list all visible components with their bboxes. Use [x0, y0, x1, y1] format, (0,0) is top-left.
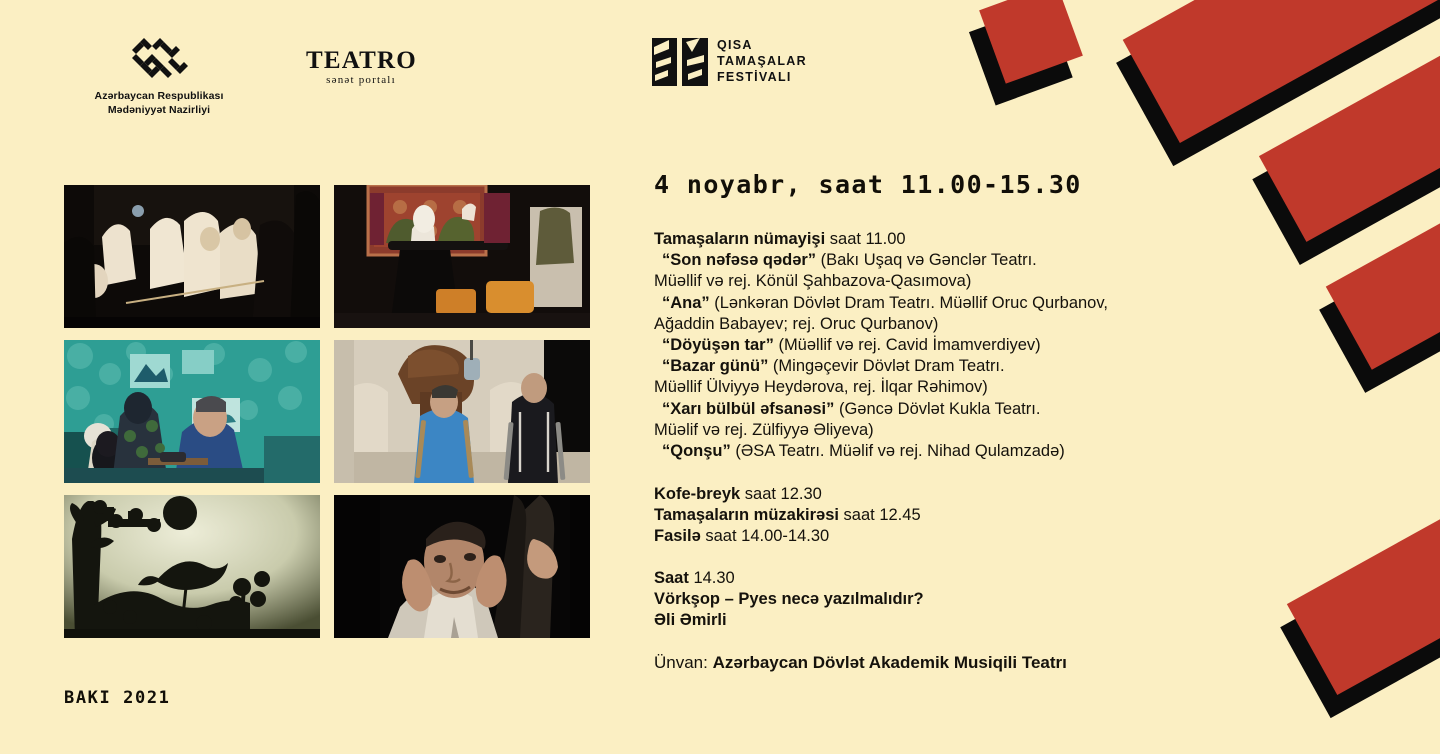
program-item-title: “Döyüşən tar” [662, 336, 774, 354]
venue-line: Ünvan: Azərbaycan Dövlət Akademik Musiqi… [654, 653, 1214, 673]
deco-bar-1 [1123, 0, 1440, 143]
schedule-item-detail: saat 12.45 [839, 506, 921, 524]
program-item-line: “Bazar günü” (Mingəçevir Dövlət Dram Tea… [654, 356, 1214, 377]
program-content: 4 noyabr, saat 11.00-15.30 Tamaşaların n… [654, 170, 1214, 673]
program-item-line: “Son nəfəsə qədər” (Bakı Uşaq və Gənclər… [654, 250, 1214, 271]
gallery-photo-3 [64, 340, 320, 483]
gallery-photo-5 [64, 495, 320, 638]
program-item-line: “Qonşu” (ƏSA Teatrı. Müəlif və rej. Niha… [654, 441, 1214, 462]
program-item-line: Tamaşaların nümayişi saat 11.00 [654, 229, 1214, 250]
city-year-footer: BAKI 2021 [64, 688, 171, 708]
poster-header: Azərbaycan Respublikası Mədəniyyət Nazir… [0, 0, 1000, 150]
photo-gallery [64, 185, 590, 638]
teatro-logo: TEATRO sənət portalı [306, 48, 416, 86]
program-item-detail: (ƏSA Teatrı. Müəlif və rej. Nihad Qulamz… [731, 442, 1065, 460]
program-item-line: “Döyüşən tar” (Müəllif və rej. Cavid İma… [654, 335, 1214, 356]
schedule-item-line: Tamaşaların müzakirəsi saat 12.45 [654, 505, 1214, 526]
venue-value: Azərbaycan Dövlət Akademik Musiqili Teat… [713, 653, 1067, 672]
ministry-logo: Azərbaycan Respublikası Mədəniyyət Nazir… [64, 36, 254, 118]
program-item-detail: saat 11.00 [825, 230, 905, 248]
gallery-photo-1 [64, 185, 320, 328]
workshop-item-title: Vörkşop – Pyes necə yazılmalıdır? [654, 590, 924, 608]
schedule-item-line: Kofe-breyk saat 12.30 [654, 484, 1214, 505]
workshop-item-title: Əli Əmirli [654, 611, 727, 629]
deco-bar-2 [1259, 0, 1440, 242]
festival-mark-icon [652, 38, 708, 86]
venue-label: Ünvan: [654, 653, 713, 672]
workshop-item-line: Saat 14.30 [654, 568, 1214, 589]
program-item-detail: Müəllif Ülviyyə Heydərova, rej. İlqar Rə… [654, 378, 988, 396]
program-item-detail: (Lənkəran Dövlət Dram Teatrı. Müəllif Or… [710, 294, 1108, 312]
program-item-detail: Müəllif və rej. Könül Şahbazova-Qasımova… [654, 272, 971, 290]
gallery-photo-2 [334, 185, 590, 328]
program-item-title: “Bazar günü” [662, 357, 768, 375]
schedule-item-detail: saat 14.00-14.30 [701, 527, 829, 545]
workshop-item-title: Saat [654, 569, 689, 587]
schedule-item-title: Fasilə [654, 527, 701, 545]
program-item-title: “Son nəfəsə qədər” [662, 251, 816, 269]
workshop-item-line: Vörkşop – Pyes necə yazılmalıdır? [654, 589, 1214, 610]
program-item-line: Ağaddin Babayev; rej. Oruc Qurbanov) [654, 314, 1214, 335]
program-item-detail: (Mingəçevir Dövlət Dram Teatrı. [768, 357, 1004, 375]
deco-bar-4 [1287, 449, 1440, 695]
teatro-logo-subtitle: sənət portalı [306, 74, 416, 86]
schedule-item-title: Tamaşaların müzakirəsi [654, 506, 839, 524]
program-item-line: Müəlif və rej. Zülfiyyə Əliyeva) [654, 420, 1214, 441]
festival-logo: QISA TAMAŞALAR FESTİVALI [652, 38, 807, 86]
schedule-item-detail: saat 12.30 [740, 485, 822, 503]
program-item-detail: (Gəncə Dövlət Kukla Teatrı. [834, 400, 1040, 418]
program-item-line: Müəllif Ülviyyə Heydərova, rej. İlqar Rə… [654, 377, 1214, 398]
deco-bar-3 [1326, 141, 1440, 370]
event-headline: 4 noyabr, saat 11.00-15.30 [654, 170, 1214, 199]
festival-logo-words: QISA TAMAŞALAR FESTİVALI [717, 38, 807, 85]
schedule-item-line: Fasilə saat 14.00-14.30 [654, 526, 1214, 547]
workshop-list: Saat 14.30Vörkşop – Pyes necə yazılmalıd… [654, 568, 1214, 632]
program-item-title: Tamaşaların nümayişi [654, 230, 825, 248]
program-item-title: “Ana” [662, 294, 710, 312]
program-item-title: “Qonşu” [662, 442, 731, 460]
program-item-detail: Müəlif və rej. Zülfiyyə Əliyeva) [654, 421, 874, 439]
program-item-title: “Xarı bülbül əfsanəsi” [662, 400, 834, 418]
workshop-item-detail: 14.30 [689, 569, 735, 587]
program-item-line: “Ana” (Lənkəran Dövlət Dram Teatrı. Müəl… [654, 293, 1214, 314]
program-list: Tamaşaların nümayişi saat 11.00“Son nəfə… [654, 229, 1214, 462]
program-item-detail: Ağaddin Babayev; rej. Oruc Qurbanov) [654, 315, 938, 333]
gallery-photo-6 [334, 495, 590, 638]
ministry-logo-caption: Azərbaycan Respublikası Mədəniyyət Nazir… [64, 89, 254, 118]
program-item-line: Müəllif və rej. Könül Şahbazova-Qasımova… [654, 271, 1214, 292]
schedule-list: Kofe-breyk saat 12.30Tamaşaların müzakir… [654, 484, 1214, 548]
program-item-detail: (Bakı Uşaq və Gənclər Teatrı. [816, 251, 1037, 269]
workshop-item-line: Əli Əmirli [654, 610, 1214, 631]
schedule-item-title: Kofe-breyk [654, 485, 740, 503]
gallery-photo-4 [334, 340, 590, 483]
azerbaijan-knot-icon [130, 36, 188, 80]
program-item-detail: (Müəllif və rej. Cavid İmamverdiyev) [774, 336, 1041, 354]
program-item-line: “Xarı bülbül əfsanəsi” (Gəncə Dövlət Kuk… [654, 399, 1214, 420]
festival-poster: Azərbaycan Respublikası Mədəniyyət Nazir… [0, 0, 1440, 754]
teatro-logo-title: TEATRO [306, 48, 416, 73]
